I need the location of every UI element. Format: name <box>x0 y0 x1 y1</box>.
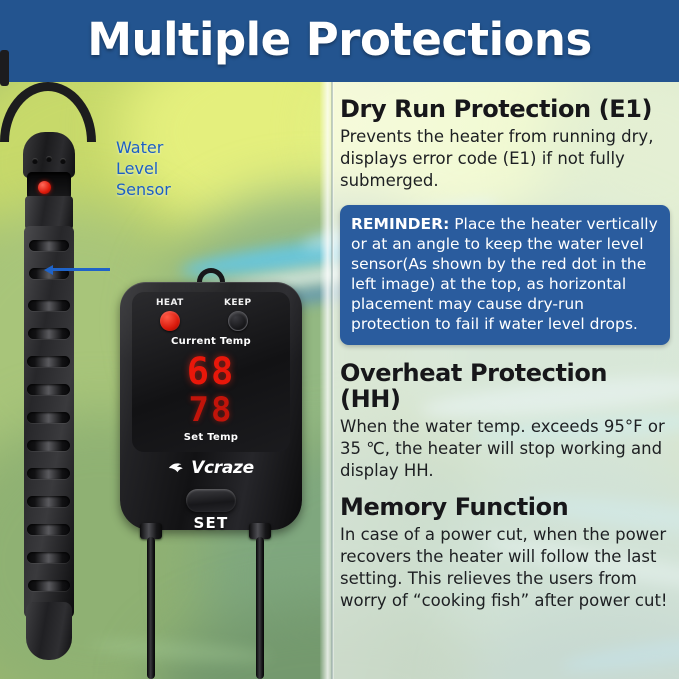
section-memory: Memory Function In case of a power cut, … <box>340 494 670 612</box>
swoosh-bird-icon <box>168 461 187 475</box>
panel-divider-line <box>331 82 333 679</box>
infographic-page: Multiple Protections <box>0 0 679 679</box>
reminder-callout-box: REMINDER: Place the heater vertically or… <box>340 205 670 345</box>
section-dry-run: Dry Run Protection (E1) Prevents the hea… <box>340 96 670 192</box>
keep-indicator-led <box>228 311 248 331</box>
heat-indicator-label: HEAT <box>156 298 184 308</box>
water-level-sensor-dot <box>38 181 51 194</box>
heater-tube <box>18 110 78 655</box>
heater-guard-body <box>24 226 74 618</box>
controller-unit: HEAT KEEP Current Temp 68 78 Set Temp Vc… <box>120 282 302 530</box>
callout-leader-line <box>48 268 110 271</box>
power-cord-upper <box>0 50 9 86</box>
features-panel: Dry Run Protection (E1) Prevents the hea… <box>340 96 670 612</box>
callout-line-2: Level <box>116 158 226 179</box>
reminder-prefix: REMINDER: <box>351 215 449 233</box>
power-cord-right <box>256 537 264 679</box>
set-button[interactable] <box>186 489 236 512</box>
current-temp-value: 68 <box>132 350 290 393</box>
header-banner: Multiple Protections <box>0 0 679 82</box>
section-overheat: Overheat Protection (HH) When the water … <box>340 360 670 483</box>
section-body: In case of a power cut, when the power r… <box>340 524 670 612</box>
section-heading: Dry Run Protection (E1) <box>340 96 670 123</box>
section-heading: Overheat Protection (HH) <box>340 360 670 414</box>
power-cord-left <box>147 537 155 679</box>
section-body: When the water temp. exceeds 95°F or 35 … <box>340 416 670 482</box>
section-body: Prevents the heater from running dry, di… <box>340 126 670 192</box>
callout-line-3: Sensor <box>116 179 226 200</box>
heater-neck <box>25 196 73 230</box>
reminder-text: REMINDER: Place the heater vertically or… <box>351 214 659 335</box>
heater-bottom-cap <box>26 602 72 660</box>
brand-name: Vcraze <box>191 458 254 478</box>
brand-logo: Vcraze <box>120 458 302 478</box>
keep-indicator-label: KEEP <box>224 298 251 308</box>
water-level-sensor-callout: Water Level Sensor <box>116 137 226 200</box>
heat-indicator-led <box>160 311 180 331</box>
callout-line-1: Water <box>116 137 226 158</box>
set-temp-value: 78 <box>132 390 290 430</box>
controller-body: HEAT KEEP Current Temp 68 78 Set Temp Vc… <box>120 282 302 530</box>
controller-display-panel: HEAT KEEP Current Temp 68 78 Set Temp <box>132 292 290 452</box>
page-title: Multiple Protections <box>0 0 679 82</box>
current-temp-label: Current Temp <box>132 336 290 347</box>
section-heading: Memory Function <box>340 494 670 521</box>
set-temp-label: Set Temp <box>132 432 290 443</box>
